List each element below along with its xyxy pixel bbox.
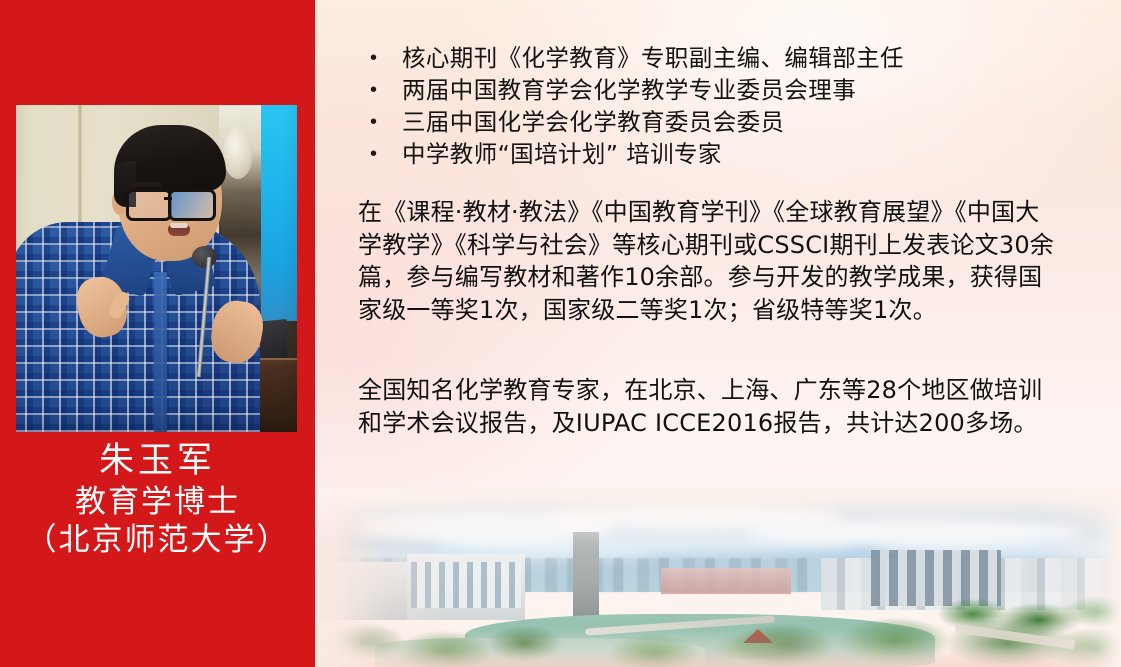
speaker-affiliation: （北京师范大学） bbox=[0, 521, 315, 559]
speaker-degree: 教育学博士 bbox=[0, 483, 315, 521]
speaker-name: 朱玉军 bbox=[0, 440, 315, 483]
bullet-text: 中学教师“国培计划” 培训专家 bbox=[402, 140, 722, 169]
speaker-caption: 朱玉军 教育学博士 （北京师范大学） bbox=[0, 440, 315, 558]
list-item: • 中学教师“国培计划” 培训专家 bbox=[370, 140, 1100, 170]
presentation-slide: 朱玉军 教育学博士 （北京师范大学） • 核心期刊《化学教育》专职副主编、编辑部… bbox=[0, 0, 1121, 667]
campus-aerial-photo bbox=[315, 488, 1121, 667]
campus-fade-overlay bbox=[315, 488, 1121, 667]
portrait-image bbox=[16, 105, 297, 432]
list-item: • 核心期刊《化学教育》专职副主编、编辑部主任 bbox=[370, 44, 1100, 74]
bullet-text: 三届中国化学会化学教育委员会委员 bbox=[402, 108, 784, 137]
paragraph-lectures: 全国知名化学教育专家，在北京、上海、广东等28个地区做培训和学术会议报告，及IU… bbox=[358, 374, 1058, 439]
bullet-dot-icon: • bbox=[370, 108, 386, 136]
speaker-portrait bbox=[16, 105, 297, 432]
bullet-dot-icon: • bbox=[370, 76, 386, 104]
list-item: • 三届中国化学会化学教育委员会委员 bbox=[370, 108, 1100, 138]
list-item: • 两届中国教育学会化学教学专业委员会理事 bbox=[370, 76, 1100, 106]
bullet-text: 核心期刊《化学教育》专职副主编、编辑部主任 bbox=[402, 44, 904, 73]
paragraph-publications: 在《课程·教材·教法》《中国教育学刊》《全球教育展望》《中国大学教学》《科学与社… bbox=[358, 196, 1058, 326]
left-red-panel: 朱玉军 教育学博士 （北京师范大学） bbox=[0, 0, 315, 667]
bullet-dot-icon: • bbox=[370, 140, 386, 168]
bullet-text: 两届中国教育学会化学教学专业委员会理事 bbox=[402, 76, 856, 105]
bullet-dot-icon: • bbox=[370, 44, 386, 72]
credentials-bullet-list: • 核心期刊《化学教育》专职副主编、编辑部主任 • 两届中国教育学会化学教学专业… bbox=[370, 44, 1100, 172]
photo-vignette bbox=[16, 105, 297, 432]
